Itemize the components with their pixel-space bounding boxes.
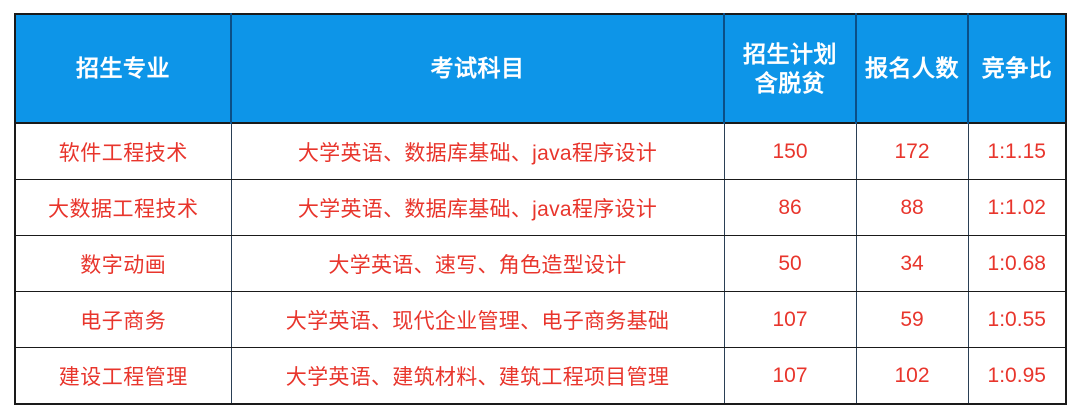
cell-applicants: 172 — [856, 123, 968, 180]
cell-plan: 107 — [724, 292, 856, 348]
column-header-major: 招生专业 — [15, 14, 231, 123]
column-header-applicants: 报名人数 — [856, 14, 968, 123]
column-header-applicants-line1: 报名人数 — [861, 54, 963, 82]
column-header-ratio: 竞争比 — [968, 14, 1066, 123]
table-row: 电子商务 大学英语、现代企业管理、电子商务基础 107 59 1:0.55 — [15, 292, 1066, 348]
table-header: 招生专业 考试科目 招生计划 含脱贫 报名人数 竞争比 — [15, 14, 1066, 123]
cell-subjects: 大学英语、数据库基础、java程序设计 — [231, 123, 724, 180]
page-root: 招生专业 考试科目 招生计划 含脱贫 报名人数 竞争比 — [0, 0, 1080, 411]
cell-plan: 50 — [724, 236, 856, 292]
cell-subjects: 大学英语、建筑材料、建筑工程项目管理 — [231, 348, 724, 405]
cell-ratio: 1:0.95 — [968, 348, 1066, 405]
cell-ratio: 1:1.02 — [968, 180, 1066, 236]
cell-ratio: 1:0.55 — [968, 292, 1066, 348]
cell-subjects: 大学英语、数据库基础、java程序设计 — [231, 180, 724, 236]
column-header-subjects-line1: 考试科目 — [236, 54, 719, 82]
cell-major: 数字动画 — [15, 236, 231, 292]
cell-applicants: 59 — [856, 292, 968, 348]
column-header-plan-line2: 含脱贫 — [729, 69, 851, 97]
table-row: 建设工程管理 大学英语、建筑材料、建筑工程项目管理 107 102 1:0.95 — [15, 348, 1066, 405]
cell-subjects: 大学英语、速写、角色造型设计 — [231, 236, 724, 292]
column-header-plan: 招生计划 含脱贫 — [724, 14, 856, 123]
table-row: 数字动画 大学英语、速写、角色造型设计 50 34 1:0.68 — [15, 236, 1066, 292]
table-row: 大数据工程技术 大学英语、数据库基础、java程序设计 86 88 1:1.02 — [15, 180, 1066, 236]
admissions-table-container: 招生专业 考试科目 招生计划 含脱贫 报名人数 竞争比 — [14, 13, 1065, 397]
cell-subjects: 大学英语、现代企业管理、电子商务基础 — [231, 292, 724, 348]
cell-ratio: 1:0.68 — [968, 236, 1066, 292]
column-header-plan-line1: 招生计划 — [729, 40, 851, 68]
column-header-ratio-line1: 竞争比 — [973, 54, 1061, 82]
cell-applicants: 102 — [856, 348, 968, 405]
cell-major: 大数据工程技术 — [15, 180, 231, 236]
table-row: 软件工程技术 大学英语、数据库基础、java程序设计 150 172 1:1.1… — [15, 123, 1066, 180]
cell-major: 软件工程技术 — [15, 123, 231, 180]
cell-plan: 86 — [724, 180, 856, 236]
table-body: 软件工程技术 大学英语、数据库基础、java程序设计 150 172 1:1.1… — [15, 123, 1066, 404]
cell-ratio: 1:1.15 — [968, 123, 1066, 180]
cell-plan: 150 — [724, 123, 856, 180]
cell-plan: 107 — [724, 348, 856, 405]
cell-applicants: 34 — [856, 236, 968, 292]
cell-major: 电子商务 — [15, 292, 231, 348]
column-header-major-line1: 招生专业 — [20, 54, 226, 82]
cell-major: 建设工程管理 — [15, 348, 231, 405]
cell-applicants: 88 — [856, 180, 968, 236]
column-header-subjects: 考试科目 — [231, 14, 724, 123]
admissions-table: 招生专业 考试科目 招生计划 含脱贫 报名人数 竞争比 — [14, 13, 1067, 405]
header-row: 招生专业 考试科目 招生计划 含脱贫 报名人数 竞争比 — [15, 14, 1066, 123]
